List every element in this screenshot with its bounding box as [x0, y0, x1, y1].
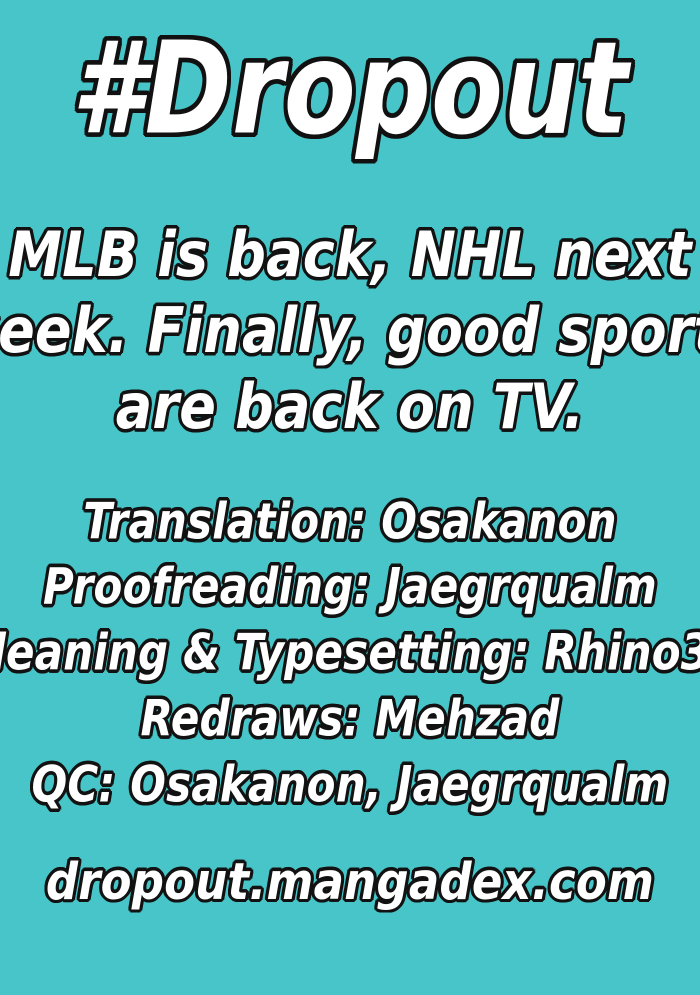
website-footer-block: dropout.mangadex.com: [0, 855, 700, 909]
credit-line-proofreading: Proofreading: Jaegrqualm: [43, 555, 657, 618]
release-message-block: MLB is back, NHL next week. Finally, goo…: [0, 220, 700, 443]
staff-credits-block: Translation: Osakanon Proofreading: Jaeg…: [0, 495, 700, 812]
credit-line-cleaning-typesetting: Cleaning & Typesetting: Rhino36: [0, 621, 700, 684]
group-title-block: #Dropout: [0, 6, 700, 174]
website-url[interactable]: dropout.mangadex.com: [46, 852, 654, 912]
credit-line-translation: Translation: Osakanon: [83, 490, 617, 553]
release-message-line: MLB is back, NHL next: [8, 214, 691, 295]
release-message-line: week. Finally, good sports: [0, 291, 700, 372]
credit-line-redraws: Redraws: Mehzad: [140, 687, 559, 750]
credits-page: #Dropout MLB is back, NHL next week. Fin…: [0, 0, 700, 995]
release-message-line: are back on TV.: [116, 367, 584, 448]
credit-line-qc: QC: Osakanon, Jaegrqualm: [32, 753, 669, 816]
group-title: #Dropout: [72, 26, 629, 153]
